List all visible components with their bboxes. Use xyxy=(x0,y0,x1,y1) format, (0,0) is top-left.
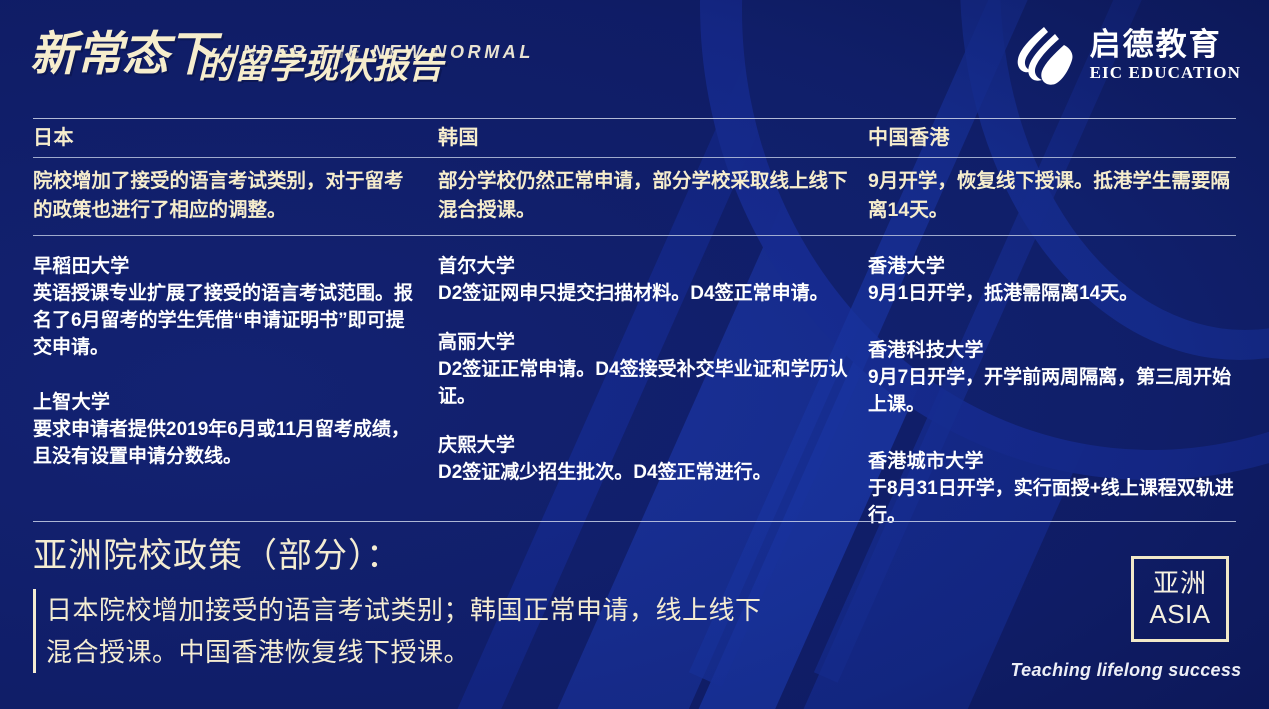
asia-badge-cn: 亚洲 xyxy=(1153,570,1207,597)
bottom-summary-body: 日本院校增加接受的语言考试类别；韩国正常申请，线上线下混合授课。中国香港恢复线下… xyxy=(33,589,783,673)
table-summary-cell-korea: 部分学校仍然正常申请，部分学校采取线上线下混合授课。 xyxy=(438,158,868,235)
column-header-label: 日本 xyxy=(33,126,420,151)
slide-header: 新常态下 UNDER THE NEW NORMAL 的留学现状报告 启德教育 E… xyxy=(0,0,1269,112)
school-name: 上智大学 xyxy=(33,390,420,417)
school-name: 早稻田大学 xyxy=(33,254,420,281)
table-header-cell-japan: 日本 xyxy=(33,119,438,157)
bottom-rule xyxy=(33,521,1236,522)
school-name: 香港城市大学 xyxy=(868,449,1236,476)
brand-text: 启德教育 EIC EDUCATION xyxy=(1090,29,1241,83)
school-entry: 首尔大学 D2签证网申只提交扫描材料。D4签正常申请。 xyxy=(438,254,850,308)
table-summary-cell-japan: 院校增加了接受的语言考试类别，对于留考的政策也进行了相应的调整。 xyxy=(33,158,438,235)
asia-badge: 亚洲 ASIA xyxy=(1131,556,1229,642)
accent-bar xyxy=(33,589,36,673)
school-policy: D2签证减少招生批次。D4签正常进行。 xyxy=(438,460,850,487)
policy-table: 日本 韩国 中国香港 院校增加了接受的语言考试类别，对于留考的政策也进行了相应的… xyxy=(33,118,1236,573)
brand-name-cn: 启德教育 xyxy=(1090,29,1222,62)
school-entry: 庆熙大学 D2签证减少招生批次。D4签正常进行。 xyxy=(438,433,850,487)
table-header-cell-korea: 韩国 xyxy=(438,119,868,157)
page-title-main: 新常态下 xyxy=(30,30,214,77)
school-name: 高丽大学 xyxy=(438,330,850,357)
brand-name-en: EIC EDUCATION xyxy=(1090,63,1241,83)
school-policy: 9月1日开学，抵港需隔离14天。 xyxy=(868,281,1236,308)
summary-text: 部分学校仍然正常申请，部分学校采取线上线下混合授课。 xyxy=(438,167,850,225)
school-name: 香港科技大学 xyxy=(868,338,1236,365)
column-header-label: 韩国 xyxy=(438,126,850,151)
school-policy: 要求申请者提供2019年6月或11月留考成绩，且没有设置申请分数线。 xyxy=(33,417,420,471)
eic-logo-icon xyxy=(1014,23,1076,89)
school-name: 香港大学 xyxy=(868,254,1236,281)
table-rule-top xyxy=(33,118,1236,119)
school-policy: 9月7日开学，开学前两周隔离，第三周开始上课。 xyxy=(868,365,1236,419)
school-entry: 香港科技大学 9月7日开学，开学前两周隔离，第三周开始上课。 xyxy=(868,338,1236,419)
summary-text: 院校增加了接受的语言考试类别，对于留考的政策也进行了相应的调整。 xyxy=(33,167,420,225)
page-title-sub: 的留学现状报告 xyxy=(198,49,443,84)
title-block: 新常态下 UNDER THE NEW NORMAL 的留学现状报告 xyxy=(30,16,670,96)
column-header-label: 中国香港 xyxy=(868,126,1236,151)
school-entry: 香港城市大学 于8月31日开学，实行面授+线上课程双轨进行。 xyxy=(868,449,1236,530)
table-header-row: 日本 韩国 中国香港 xyxy=(33,119,1236,157)
table-summary-row: 院校增加了接受的语言考试类别，对于留考的政策也进行了相应的调整。 部分学校仍然正… xyxy=(33,158,1236,235)
school-entry: 上智大学 要求申请者提供2019年6月或11月留考成绩，且没有设置申请分数线。 xyxy=(33,390,420,471)
school-entry: 早稻田大学 英语授课专业扩展了接受的语言考试范围。报名了6月留考的学生凭借“申请… xyxy=(33,254,420,362)
school-policy: D2签证正常申请。D4签接受补交毕业证和学历认证。 xyxy=(438,357,850,411)
school-name: 首尔大学 xyxy=(438,254,850,281)
school-entry: 高丽大学 D2签证正常申请。D4签接受补交毕业证和学历认证。 xyxy=(438,330,850,411)
brand-tagline: Teaching lifelong success xyxy=(1006,660,1246,681)
table-rule-under-header xyxy=(33,157,1236,158)
bottom-summary-text: 日本院校增加接受的语言考试类别；韩国正常申请，线上线下混合授课。中国香港恢复线下… xyxy=(46,589,783,673)
table-rule-under-summary xyxy=(33,235,1236,236)
school-policy: 英语授课专业扩展了接受的语言考试范围。报名了6月留考的学生凭借“申请证明书”即可… xyxy=(33,281,420,362)
bottom-summary-title: 亚洲院校政策（部分）： xyxy=(33,536,1236,577)
school-entry: 香港大学 9月1日开学，抵港需隔离14天。 xyxy=(868,254,1236,308)
slide-root: 新常态下 UNDER THE NEW NORMAL 的留学现状报告 启德教育 E… xyxy=(0,0,1269,709)
school-policy: D2签证网申只提交扫描材料。D4签正常申请。 xyxy=(438,281,850,308)
table-header-cell-hongkong: 中国香港 xyxy=(868,119,1236,157)
school-name: 庆熙大学 xyxy=(438,433,850,460)
summary-text: 9月开学，恢复线下授课。抵港学生需要隔离14天。 xyxy=(868,167,1236,225)
bottom-summary: 亚洲院校政策（部分）： 日本院校增加接受的语言考试类别；韩国正常申请，线上线下混… xyxy=(33,521,1236,673)
table-summary-cell-hongkong: 9月开学，恢复线下授课。抵港学生需要隔离14天。 xyxy=(868,158,1236,235)
brand-logo: 启德教育 EIC EDUCATION xyxy=(1014,20,1241,92)
asia-badge-en: ASIA xyxy=(1149,601,1210,628)
